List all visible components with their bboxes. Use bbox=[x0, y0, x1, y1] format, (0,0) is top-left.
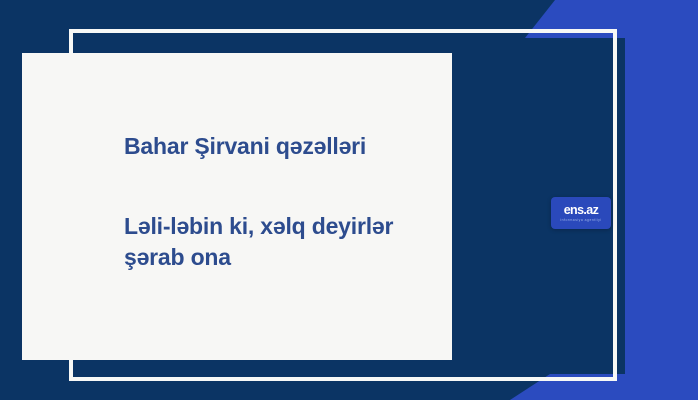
content-card: Bahar Şirvani qəzəlləri Ləli-ləbin ki, x… bbox=[22, 53, 452, 360]
share-card-image: Bahar Şirvani qəzəlləri Ləli-ləbin ki, x… bbox=[0, 0, 698, 400]
content-card-text-block: Bahar Şirvani qəzəlləri Ləli-ləbin ki, x… bbox=[124, 131, 428, 272]
article-title: Bahar Şirvani qəzəlləri bbox=[124, 131, 428, 161]
ensaz-logo-tagline: informasiya agentliyi bbox=[560, 219, 601, 222]
article-subtitle: Ləli-ləbin ki, xəlq deyirlər şərab ona bbox=[124, 211, 428, 272]
ensaz-logo-wordmark: ens.az bbox=[564, 204, 599, 217]
accent-panel-right bbox=[625, 0, 698, 400]
ensaz-logo-badge[interactable]: ens.az informasiya agentliyi bbox=[551, 197, 611, 229]
